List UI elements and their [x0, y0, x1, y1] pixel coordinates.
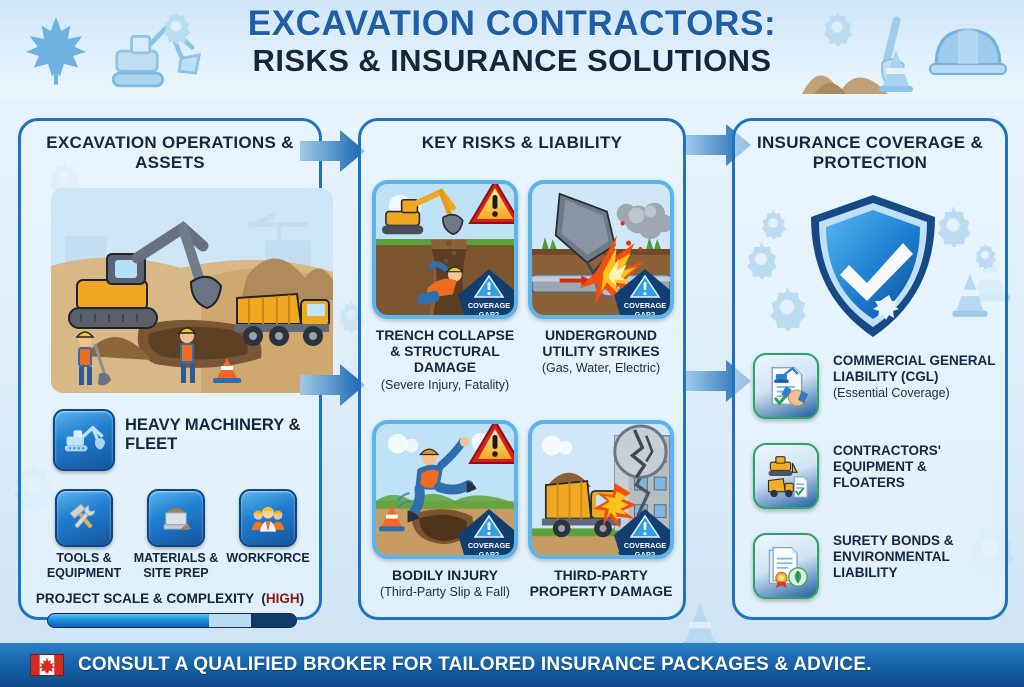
middle-panel-title: Key Risks & Liability	[361, 133, 683, 153]
header-title-line1: Excavation Contractors:	[0, 6, 1024, 42]
badge-materials-site-prep[interactable]	[147, 489, 205, 547]
coverage-gap-badge[interactable]: COVERAGE GAP?	[458, 509, 518, 559]
warning-triangle-icon	[468, 420, 518, 466]
svg-text:GAP?: GAP?	[635, 550, 656, 559]
risk-title: Third-Party Property Damage	[528, 567, 674, 599]
slip-fall-icon: COVERAGE GAP?	[372, 420, 518, 559]
canada-flag-icon	[30, 654, 64, 676]
project-scale-label: Project Scale & Complexity	[36, 591, 254, 606]
coverage-title: Commercial General Liability (CGL)	[833, 353, 997, 385]
header-title-line2: Risks & Insurance Solutions	[0, 45, 1024, 77]
panel-insurance-coverage: Insurance Coverage & Protection	[732, 118, 1008, 620]
risk-title: Bodily Injury	[372, 567, 518, 583]
utility-strike-icon: COVERAGE GAP?	[528, 180, 674, 319]
label-materials-site-prep: Materials & Site Prep	[128, 551, 224, 580]
coverage-text: Surety Bonds & Environmental Liability	[833, 533, 997, 583]
svg-text:COVERAGE: COVERAGE	[624, 541, 666, 550]
badge-workforce[interactable]	[239, 489, 297, 547]
policy-handshake-icon	[753, 353, 819, 419]
property-damage-icon: COVERAGE GAP?	[528, 420, 674, 559]
progress-mid-segment	[209, 614, 251, 627]
coverage-text: Contractors' Equipment & Floaters	[833, 443, 997, 493]
coverage-item[interactable]: Contractors' Equipment & Floaters	[753, 443, 993, 517]
bond-seal-leaf-icon	[753, 533, 819, 599]
svg-text:GAP?: GAP?	[479, 310, 500, 319]
risk-subtitle: (Severe Injury, Fatality)	[372, 378, 518, 393]
badge-tools-equipment[interactable]	[55, 489, 113, 547]
shield-check-maple-icon	[803, 191, 943, 341]
risk-title: Underground Utility Strikes	[528, 327, 674, 359]
right-panel-title: Insurance Coverage & Protection	[735, 133, 1005, 173]
excavator-icon	[63, 423, 105, 457]
coverage-item[interactable]: Surety Bonds & Environmental Liability	[753, 533, 993, 607]
risk-subtitle: (Gas, Water, Electric)	[528, 361, 674, 376]
warning-triangle-icon	[468, 180, 518, 226]
arrow-left-to-middle-top	[300, 128, 366, 174]
panel-excavation-operations: Excavation Operations & Assets	[18, 118, 322, 620]
hammer-wrench-icon	[67, 501, 101, 535]
project-scale-progressbar[interactable]	[47, 613, 297, 628]
coverage-title: Surety Bonds & Environmental Liability	[833, 533, 997, 582]
gear-icon	[741, 239, 781, 279]
bulldozer-truck-policy-icon	[753, 443, 819, 509]
footer-text: Consult a Qualified Broker for Tailored …	[78, 654, 872, 676]
coverage-gap-badge[interactable]: COVERAGE GAP?	[458, 269, 518, 319]
risk-card[interactable]: COVERAGE GAP? Bodily Injury (Third-Party…	[372, 420, 518, 600]
progress-fill	[48, 614, 209, 627]
coverage-item[interactable]: Commercial General Liability (CGL) (Esse…	[753, 353, 993, 427]
risk-title: Trench Collapse & Structural Damage	[372, 327, 518, 376]
coverage-gap-badge[interactable]: COVERAGE GAP?	[614, 269, 674, 319]
svg-text:COVERAGE: COVERAGE	[624, 301, 666, 310]
footer-banner: Consult a Qualified Broker for Tailored …	[0, 643, 1024, 687]
risk-subtitle: (Third-Party Slip & Fall)	[372, 585, 518, 600]
coverage-text: Commercial General Liability (CGL) (Esse…	[833, 353, 997, 401]
trench-collapse-icon: COVERAGE GAP?	[372, 180, 518, 319]
svg-text:GAP?: GAP?	[479, 550, 500, 559]
heavy-machinery-label: Heavy Machinery & Fleet	[125, 416, 321, 455]
gear-icon	[971, 241, 999, 269]
workers-group-icon	[250, 502, 286, 535]
coverage-subtitle: (Essential Coverage)	[833, 386, 997, 401]
gear-icon	[757, 207, 789, 239]
header-banner: Excavation Contractors: Risks & Insuranc…	[0, 0, 1024, 98]
risk-card[interactable]: COVERAGE GAP? Trench Collapse & Structur…	[372, 180, 518, 392]
badge-heavy-machinery[interactable]	[53, 409, 115, 471]
svg-text:GAP?: GAP?	[635, 310, 656, 319]
project-scale-row: Project Scale & Complexity (HIGH)	[21, 591, 319, 606]
excavation-site-illustration	[51, 188, 333, 393]
project-scale-value: HIGH	[266, 591, 300, 606]
coverage-gap-badge[interactable]: COVERAGE GAP?	[614, 509, 674, 559]
coverage-title: Contractors' Equipment & Floaters	[833, 443, 997, 492]
risk-card[interactable]: COVERAGE GAP? Third-Party Property Damag…	[528, 420, 674, 601]
infographic-root: Excavation Contractors: Risks & Insuranc…	[0, 0, 1024, 687]
svg-text:COVERAGE: COVERAGE	[468, 301, 510, 310]
traffic-cone-icon	[949, 269, 991, 319]
label-workforce: Workforce	[220, 551, 316, 566]
material-pallet-icon	[159, 501, 193, 535]
left-panel-title: Excavation Operations & Assets	[21, 133, 319, 173]
risk-card[interactable]: COVERAGE GAP? Underground Utility Strike…	[528, 180, 674, 376]
svg-text:COVERAGE: COVERAGE	[468, 541, 510, 550]
arrow-left-to-middle-bottom	[300, 362, 366, 408]
label-tools-equipment: Tools & Equipment	[36, 551, 132, 580]
